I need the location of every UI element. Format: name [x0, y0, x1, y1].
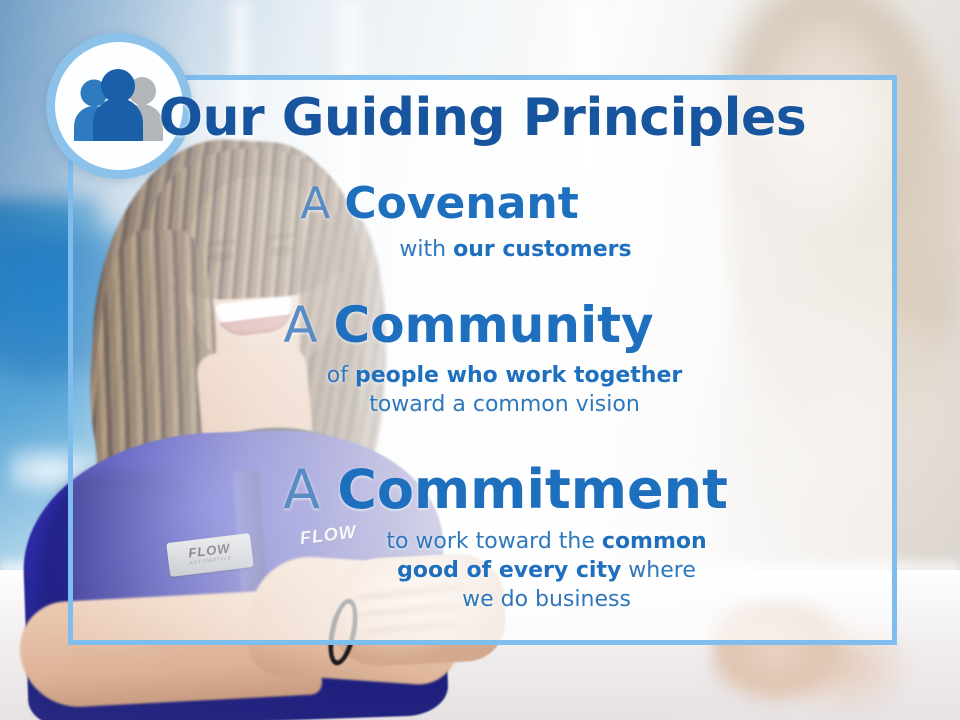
- principle-text: to work toward the: [386, 529, 602, 554]
- principle-line: toward a common vision: [112, 390, 897, 419]
- principle-text: of: [327, 363, 355, 388]
- principle-description: to work toward the common good of every …: [68, 527, 897, 614]
- principle-article: A: [283, 458, 320, 521]
- principle-text: toward a common vision: [369, 392, 640, 417]
- principle-line: good of every city where: [196, 556, 897, 585]
- principle-line: with our customers: [134, 235, 897, 264]
- principle-word: Community: [334, 296, 654, 354]
- principle-word: Commitment: [337, 458, 728, 521]
- principle-text-bold: our customers: [453, 237, 632, 262]
- customer-hand: [710, 600, 930, 720]
- principle-block-community: A Community of people who work together …: [68, 300, 897, 419]
- principle-heading: A Community: [68, 300, 897, 351]
- principle-line: to work toward the common: [196, 527, 897, 556]
- principle-heading: A Commitment: [68, 462, 897, 517]
- principle-block-covenant: A Covenant with our customers: [68, 182, 897, 264]
- principle-line: of people who work together: [112, 361, 897, 390]
- principle-text: with: [399, 237, 453, 262]
- principle-word: Covenant: [344, 178, 578, 229]
- principle-heading: A Covenant: [68, 182, 897, 227]
- principle-line: we do business: [196, 585, 897, 614]
- principle-article: A: [283, 296, 317, 354]
- principle-description: with our customers: [68, 235, 897, 264]
- principle-text-bold: common: [602, 529, 707, 554]
- principle-text-bold: good of every city: [397, 558, 621, 583]
- principle-description: of people who work together toward a com…: [68, 361, 897, 419]
- poster-canvas: FLOW AUTOMOTIVE FLOW: [0, 0, 960, 720]
- principle-article: A: [300, 178, 330, 229]
- principle-text: where: [621, 558, 696, 583]
- principle-block-commitment: A Commitment to work toward the common g…: [68, 462, 897, 614]
- principle-text: we do business: [462, 587, 631, 612]
- page-title: Our Guiding Principles: [68, 92, 897, 144]
- principle-text-bold: people who work together: [355, 363, 682, 388]
